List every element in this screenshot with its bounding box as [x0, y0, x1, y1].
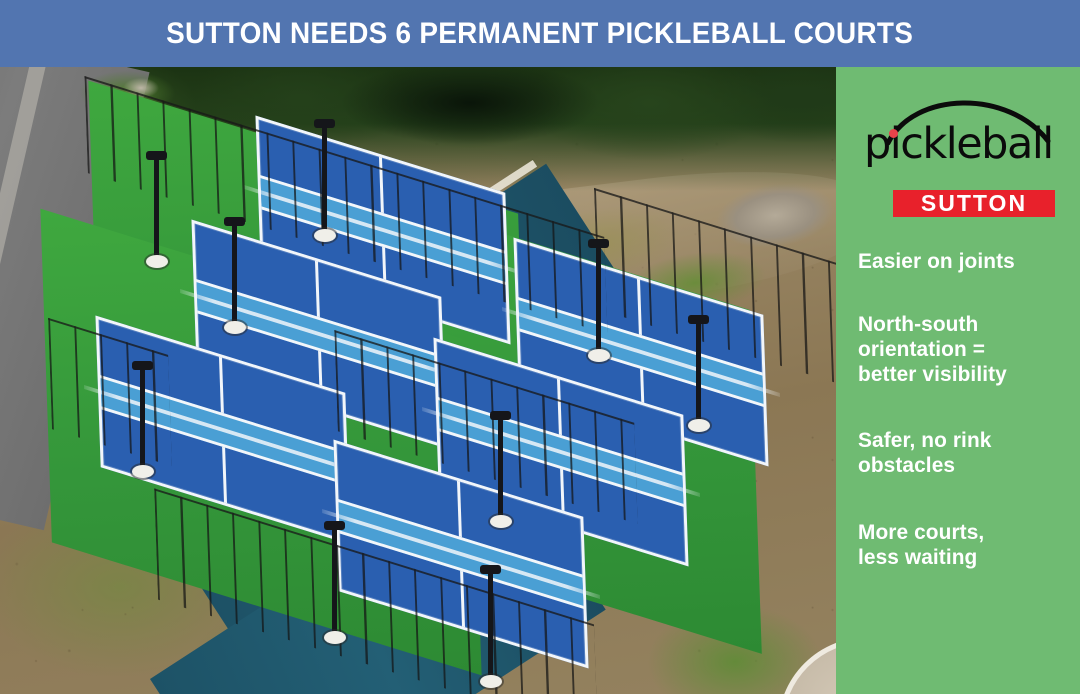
court-centerline: [457, 481, 462, 537]
light-pole-base: [324, 631, 346, 644]
logo-i-dot-icon: [889, 129, 898, 138]
benefit-item-3: Safer, no rink obstacles: [858, 428, 1057, 478]
court-complex: [36, 127, 736, 667]
light-pole-base: [224, 321, 246, 334]
light-pole: [322, 125, 327, 233]
light-pole: [488, 571, 493, 679]
court-centerline: [315, 261, 320, 317]
benefit-item-1: Easier on joints: [858, 249, 1057, 274]
light-pole: [596, 245, 601, 353]
aerial-courts-photo: [0, 67, 836, 694]
light-pole: [696, 321, 701, 425]
light-pole-base: [588, 349, 610, 362]
light-pole-base: [132, 465, 154, 478]
light-pole: [498, 417, 503, 521]
benefit-item-4: More courts, less waiting: [858, 520, 1057, 570]
header-banner: SUTTON NEEDS 6 PERMANENT PICKLEBALL COUR…: [0, 0, 1080, 67]
light-pole-base: [146, 255, 168, 268]
benefit-item-2: North-south orientation = better visibil…: [858, 312, 1057, 387]
light-pole: [332, 527, 337, 635]
light-pole-base: [480, 675, 502, 688]
pickleball-sutton-logo: pickleball SUTTON: [856, 85, 1060, 203]
sidebar-panel: pickleball SUTTON Easier on joints North…: [836, 67, 1080, 694]
light-pole: [154, 157, 159, 261]
light-pole-base: [314, 229, 336, 242]
benefits-list: Easier on joints North-south orientation…: [858, 249, 1063, 570]
page-title: SUTTON NEEDS 6 PERMANENT PICKLEBALL COUR…: [166, 17, 913, 51]
light-pole-base: [688, 419, 710, 432]
logo-sutton-text: SUTTON: [921, 192, 1027, 215]
court-centerline: [219, 357, 224, 413]
court-centerline: [222, 447, 227, 503]
poster: SUTTON NEEDS 6 PERMANENT PICKLEBALL COUR…: [0, 0, 1080, 694]
logo-sutton-band: SUTTON: [893, 190, 1055, 217]
light-pole: [140, 367, 145, 471]
light-pole-base: [490, 515, 512, 528]
light-pole: [232, 223, 237, 327]
